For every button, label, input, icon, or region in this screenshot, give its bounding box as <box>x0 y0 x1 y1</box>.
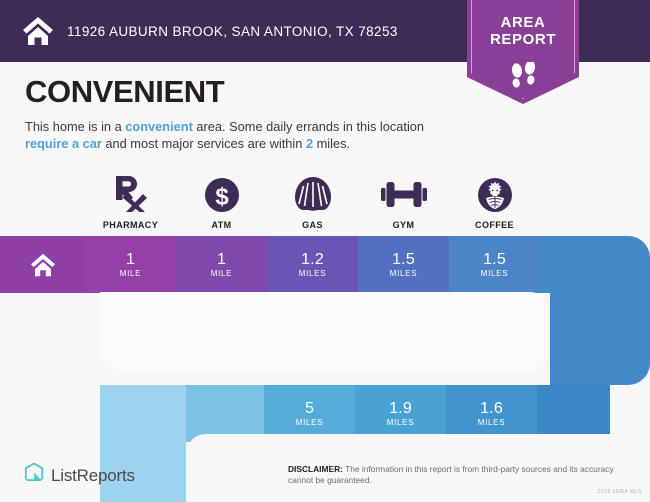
amenity-label: GYM <box>393 220 415 230</box>
distance-unit: MILES <box>387 418 415 427</box>
distance-value: 1.2 <box>301 251 324 268</box>
badge-line-2: REPORT <box>467 31 579 48</box>
ribbon-elbow-right <box>540 293 650 385</box>
subtitle-highlight-3: 2 <box>306 136 313 151</box>
amenity-label: PHARMACY <box>103 220 158 230</box>
listreports-logo-text: ListReports <box>51 466 135 486</box>
distance-value: 5 <box>305 400 314 417</box>
home-icon <box>21 14 55 48</box>
amenity-atm: $ ATM <box>176 172 267 230</box>
distance-value: 1 <box>217 251 226 268</box>
amenity-gym: GYM <box>358 172 449 230</box>
distance-unit: MILES <box>478 418 506 427</box>
distance-value: 1.9 <box>389 400 412 417</box>
distance-value: 1.5 <box>392 251 415 268</box>
distance-segment-home <box>0 236 85 293</box>
distance-unit: MILES <box>296 418 324 427</box>
prescription-rx-icon <box>113 172 149 214</box>
page-title: CONVENIENT <box>25 74 224 110</box>
amenity-label: ATM <box>211 220 231 230</box>
subtitle-part-3: and most major services are within <box>102 136 306 151</box>
distance-segment-gym: 1.5 MILES <box>358 236 449 293</box>
distance-unit: MILES <box>390 269 418 278</box>
amenity-pharmacy: PHARMACY <box>85 172 176 230</box>
distance-bar-row-1: 1 MILE 1 MILE 1.2 MILES 1.5 MILES 1.5 MI… <box>0 236 650 293</box>
page-subtitle: This home is in a convenient area. Some … <box>25 118 445 152</box>
distance-segment-gas: 1.2 MILES <box>267 236 358 293</box>
amenity-label: GAS <box>302 220 323 230</box>
dollar-circle-icon: $ <box>202 172 242 214</box>
amenity-coffee: COFFEE <box>449 172 540 230</box>
badge-label: AREA REPORT <box>467 14 579 48</box>
subtitle-part-4: miles. <box>313 136 350 151</box>
distance-unit: MILE <box>211 269 232 278</box>
distance-value: 1.6 <box>480 400 503 417</box>
disclaimer: DISCLAIMER: The information in this repo… <box>288 464 638 486</box>
distance-unit: MILE <box>120 269 141 278</box>
distance-value: 1 <box>126 251 135 268</box>
badge-line-1: AREA <box>467 14 579 31</box>
distance-unit: MILES <box>299 269 327 278</box>
home-icon-ribbon <box>30 253 56 277</box>
subtitle-highlight-1: convenient <box>125 119 193 134</box>
listreports-logo[interactable]: ListReports <box>24 462 135 489</box>
coffee-siren-icon <box>475 172 515 214</box>
disclaimer-label: DISCLAIMER: <box>288 464 343 474</box>
amenity-gas: GAS <box>267 172 358 230</box>
copyright-notice: 2026 LERA MLS <box>597 489 642 495</box>
distance-segment-pharmacy: 1 MILE <box>85 236 176 293</box>
distance-value: 1.5 <box>483 251 506 268</box>
distance-unit: MILES <box>481 269 509 278</box>
area-report-infographic: 11926 AUBURN BROOK, SAN ANTONIO, TX 7825… <box>0 0 650 502</box>
amenity-icon-row-1: PHARMACY $ ATM <box>85 172 540 230</box>
svg-text:$: $ <box>215 184 229 211</box>
footprints-icon <box>467 62 579 96</box>
subtitle-highlight-2: require a car <box>25 136 102 151</box>
dumbbell-icon <box>380 172 428 214</box>
ribbon-inner-card-top <box>100 292 550 370</box>
property-address: 11926 AUBURN BROOK, SAN ANTONIO, TX 7825… <box>67 24 398 39</box>
distance-segment-atm: 1 MILE <box>176 236 267 293</box>
distance-segment-coffee: 1.5 MILES <box>449 236 540 293</box>
distance-segment-lead-1 <box>100 385 186 442</box>
subtitle-part-2: area. Some daily errands in this locatio… <box>193 119 424 134</box>
gas-shell-icon <box>292 172 334 214</box>
listreports-logo-icon <box>24 462 44 489</box>
amenity-label: COFFEE <box>475 220 514 230</box>
subtitle-part-1: This home is in a <box>25 119 125 134</box>
